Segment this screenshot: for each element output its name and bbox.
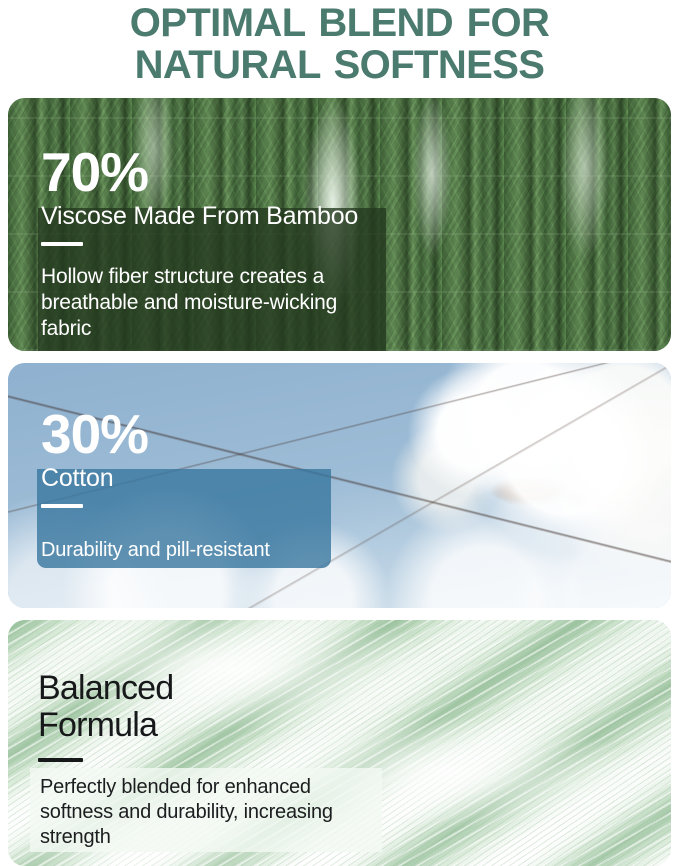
cotton-percent: 30% [41,407,148,462]
fabric-stat-block: Balanced Formula [38,670,173,762]
bamboo-panel-content: 70% Viscose Made From Bamboo Hollow fibe… [8,98,671,351]
fabric-heading-line-2: Formula [38,707,173,744]
bamboo-material-label: Viscose Made From Bamboo [41,202,358,230]
infographic-header: OPTIMAL BLEND FOR NATURAL SOFTNESS [0,0,679,86]
fabric-heading-line-1: Balanced [38,669,173,707]
panel-cotton: 30% Cotton Durability and pill-resistant [8,363,671,608]
fabric-divider-rule [38,758,83,762]
bamboo-stat-block: 70% Viscose Made From Bamboo [41,145,358,246]
page-title-line-2: NATURAL SOFTNESS [40,44,639,86]
bamboo-percent: 70% [41,145,358,200]
panel-bamboo: 70% Viscose Made From Bamboo Hollow fibe… [8,98,671,351]
panel-balanced-formula: Balanced Formula Perfectly blended for e… [8,620,671,866]
bamboo-divider-rule [41,242,83,246]
page-title: OPTIMAL BLEND FOR NATURAL SOFTNESS [0,2,679,86]
cotton-panel-content: 30% Cotton Durability and pill-resistant [8,363,671,608]
bamboo-description: Hollow fiber structure creates a breatha… [41,264,371,342]
cotton-stat-block: 30% Cotton [41,407,148,508]
cotton-material-label: Cotton [41,464,148,492]
page-title-line-1: OPTIMAL BLEND FOR [130,1,550,45]
cotton-divider-rule [41,504,83,508]
fabric-heading: Balanced Formula [38,670,173,744]
panel-list: 70% Viscose Made From Bamboo Hollow fibe… [0,98,679,866]
fabric-description: Perfectly blended for enhanced softness … [40,775,380,850]
cotton-description: Durability and pill-resistant [41,537,341,563]
fabric-panel-content: Balanced Formula Perfectly blended for e… [8,620,671,866]
